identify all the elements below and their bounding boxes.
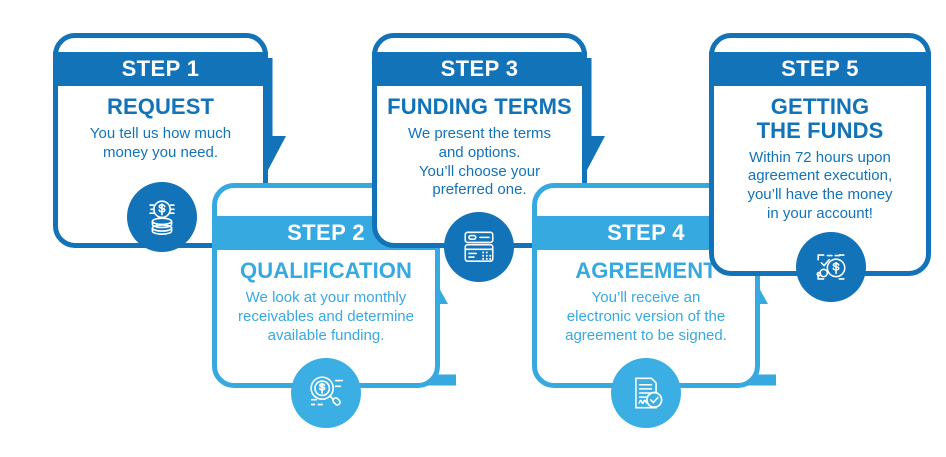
step-badge-label: STEP 1 bbox=[122, 58, 200, 80]
infographic-canvas: STEP 1 REQUEST You tell us how much mone… bbox=[0, 0, 946, 457]
step-body-1: REQUEST You tell us how much money you n… bbox=[58, 95, 263, 163]
step-body-2: QUALIFICATION We look at your monthly re… bbox=[217, 259, 435, 345]
step-body-5: GETTING THE FUNDS Within 72 hours upon a… bbox=[714, 95, 926, 224]
step-title: QUALIFICATION bbox=[227, 259, 425, 283]
step-title: FUNDING TERMS bbox=[387, 95, 572, 119]
step-badge-1: STEP 1 bbox=[53, 52, 268, 86]
step-badge-3: STEP 3 bbox=[372, 52, 587, 86]
step-description: You’ll receive an electronic version of … bbox=[547, 289, 745, 346]
terms-form-icon bbox=[444, 212, 514, 282]
step-title: GETTING THE FUNDS bbox=[724, 95, 916, 143]
step-badge-label: STEP 5 bbox=[781, 58, 859, 80]
step-badge-label: STEP 2 bbox=[287, 222, 365, 244]
step-title: REQUEST bbox=[68, 95, 253, 119]
step-description: Within 72 hours upon agreement execution… bbox=[724, 149, 916, 225]
step-description: We look at your monthly receivables and … bbox=[227, 289, 425, 346]
step-badge-label: STEP 3 bbox=[441, 58, 519, 80]
step-badge-label: STEP 4 bbox=[607, 222, 685, 244]
signed-document-check-icon bbox=[611, 358, 681, 428]
step-description: You tell us how much money you need. bbox=[68, 125, 253, 163]
magnifier-dollar-icon bbox=[291, 358, 361, 428]
step-badge-5: STEP 5 bbox=[709, 52, 931, 86]
coin-stack-dollar-icon bbox=[127, 182, 197, 252]
funds-received-dollar-icon bbox=[796, 232, 866, 302]
